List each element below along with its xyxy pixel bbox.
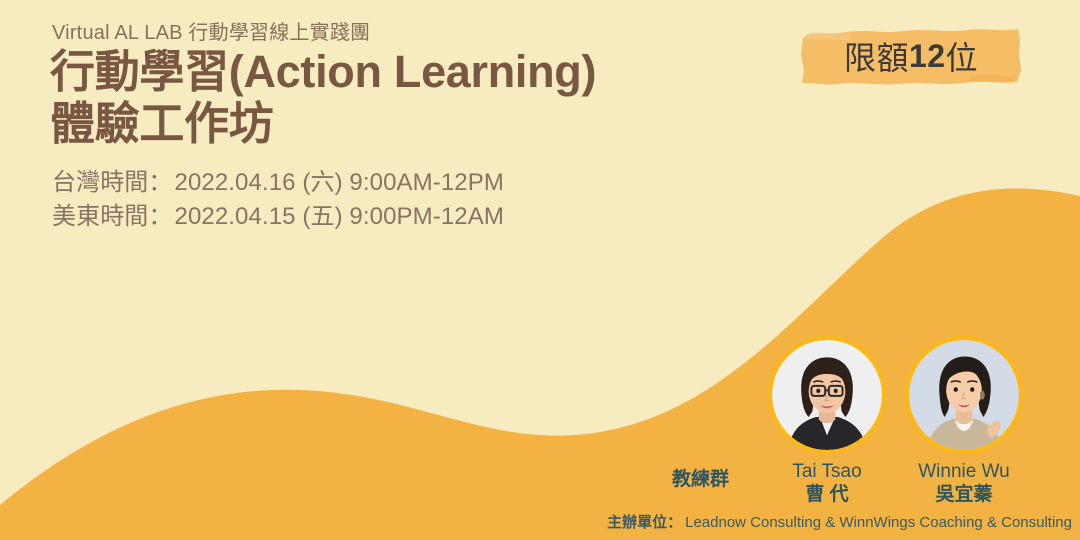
coach-name-en-1: Tai Tsao [763,461,891,483]
avatar-tai-tsao [768,336,886,454]
schedule-row-taiwan: 台灣時間：2022.04.16 (六) 9:00AM-12PM [52,166,504,200]
title-line-1: 行動學習(Action Learning) [50,46,750,98]
coach-card-2: Winnie Wu 吳宜蓁 [900,336,1028,507]
avatar-winnie-wu [905,336,1023,454]
coach-name-zh-1: 曹 代 [763,483,891,507]
quota-badge-text: 限額12位 [800,26,1022,86]
title-line-2: 體驗工作坊 [50,98,750,150]
event-poster: Virtual AL LAB 行動學習線上實踐團 行動學習(Action Lea… [0,0,1080,540]
quota-suffix: 位 [946,33,979,79]
schedule-value-taiwan: 2022.04.16 (六) 9:00AM-12PM [175,169,504,196]
coach-card-1: Tai Tsao 曹 代 [763,336,891,507]
schedule-label-us-east: 美東時間： [52,203,173,230]
coach-name-en-2: Winnie Wu [900,461,1028,483]
footer-label: 主辦單位： [607,514,682,531]
quota-prefix: 限額 [844,33,909,79]
coach-name-zh-2: 吳宜蓁 [900,483,1028,507]
footer-organizers: 主辦單位：Leadnow Consulting & WinnWings Coac… [607,511,1072,532]
coaches-section: 教練群 [660,336,1080,496]
schedule-label-taiwan: 台灣時間： [52,169,173,196]
schedule-list: 台灣時間：2022.04.16 (六) 9:00AM-12PM 美東時間：202… [52,166,504,234]
eyebrow-text: Virtual AL LAB 行動學習線上實踐團 [52,16,370,45]
schedule-row-us-east: 美東時間：2022.04.15 (五) 9:00PM-12AM [52,200,504,234]
page-title: 行動學習(Action Learning) 體驗工作坊 [50,46,750,150]
footer-organizer-names: Leadnow Consulting & WinnWings Coaching … [685,514,1072,531]
schedule-value-us-east: 2022.04.15 (五) 9:00PM-12AM [175,203,504,230]
quota-count: 12 [909,38,946,75]
quota-badge: 限額12位 [800,26,1022,86]
coaches-group-label: 教練群 [672,464,729,491]
